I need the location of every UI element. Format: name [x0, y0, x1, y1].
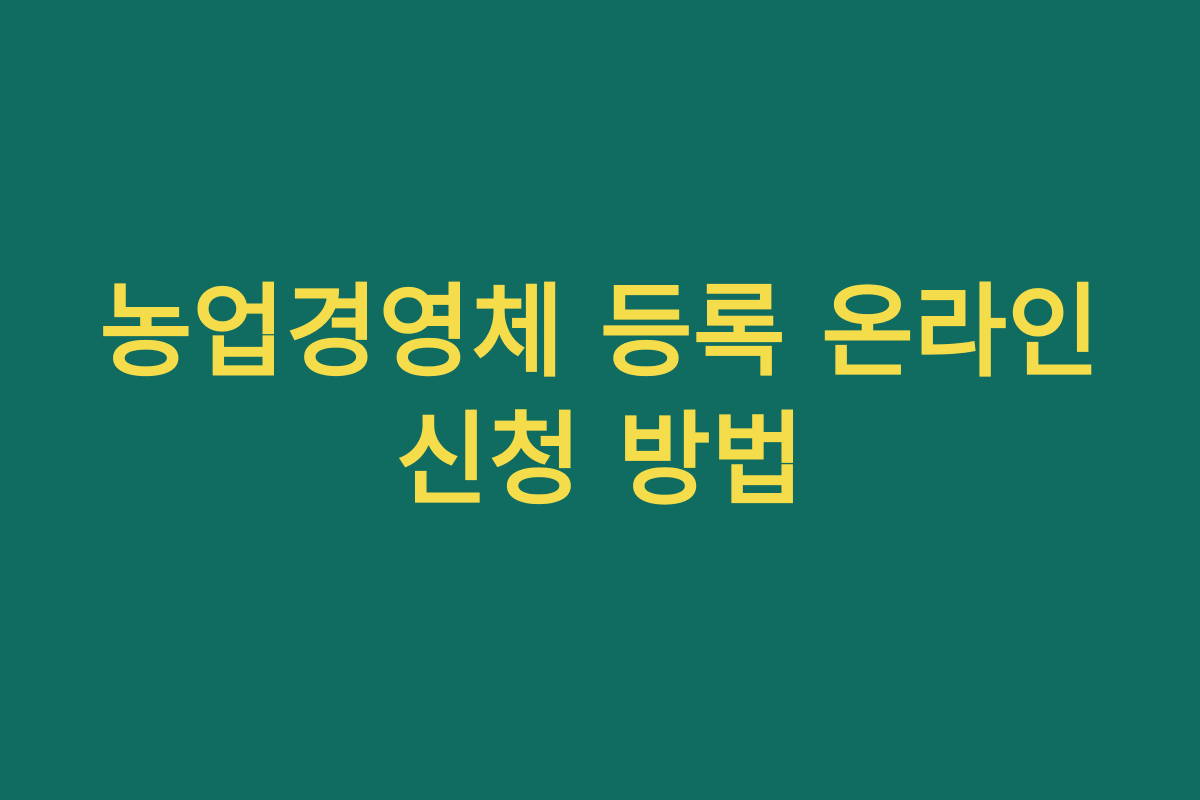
page-title-line-1: 농업경영체 등록 온라인 — [73, 268, 1128, 396]
banner-thumbnail: 농업경영체 등록 온라인 신청 방법 — [0, 0, 1200, 800]
page-title: 농업경영체 등록 온라인 신청 방법 — [70, 268, 1130, 524]
page-title-line-2: 신청 방법 — [70, 396, 1130, 524]
